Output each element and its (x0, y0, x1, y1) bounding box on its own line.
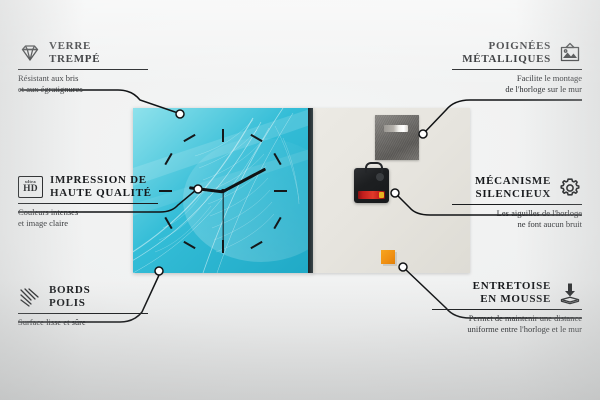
callout-title-line1: MÉCANISME (475, 175, 551, 188)
clock-face-panel (133, 108, 313, 273)
callout-subtitle-line1: Couleurs intenses (18, 207, 158, 218)
callout-subtitle-line1: Permet de maintenir une distance (432, 313, 582, 324)
callout-subtitle-line2: de l'horloge sur le mur (452, 84, 582, 95)
callout-title-line1: VERRE (49, 40, 100, 53)
clock-mechanism (354, 168, 389, 203)
callout-bords-polis: BORDS POLIS Surface lisse et sûre (18, 284, 148, 328)
arrow-down-pad-icon (558, 281, 582, 305)
callout-title-line2: POLIS (49, 297, 90, 310)
ultra-hd-icon: ultra HD (18, 176, 43, 198)
callout-title-line2: HAUTE QUALITÉ (50, 187, 152, 200)
callout-header: BORDS POLIS (18, 284, 148, 310)
diagonal-lines-icon (18, 285, 42, 309)
callout-title-line1: IMPRESSION DE (50, 174, 152, 187)
callout-subtitle-line2: ne font aucun bruit (452, 219, 582, 230)
callout-divider (452, 204, 582, 205)
gear-icon (558, 176, 582, 200)
callout-subtitle-line1: Les aiguilles de l'horloge (452, 208, 582, 219)
infographic-canvas: VERRE TREMPÉ Résistant aux bris et aux é… (0, 0, 600, 400)
callout-header: ultra HD IMPRESSION DE HAUTE QUALITÉ (18, 174, 158, 200)
callout-title-line2: SILENCIEUX (475, 188, 551, 201)
product-image (133, 108, 470, 273)
callout-title-line2: MÉTALLIQUES (462, 53, 551, 66)
callout-divider (452, 69, 582, 70)
callout-title-line2: TREMPÉ (49, 53, 100, 66)
callout-title-line1: BORDS (49, 284, 90, 297)
ultra-hd-icon-large-text: HD (23, 185, 38, 195)
callout-subtitle-line2: uniforme entre l'horloge et le mur (432, 324, 582, 335)
battery (358, 191, 385, 199)
callout-subtitle-line1: Facilite le montage (452, 73, 582, 84)
foam-spacer (381, 250, 395, 264)
callout-impression-haute-qualite: ultra HD IMPRESSION DE HAUTE QUALITÉ Cou… (18, 174, 158, 228)
callout-title-line2: EN MOUSSE (473, 293, 551, 306)
callout-subtitle-line1: Résistant aux bris (18, 73, 148, 84)
clock-tick (274, 190, 287, 192)
callout-divider (18, 313, 148, 314)
callout-subtitle-line2: et aux égratignures (18, 84, 148, 95)
callout-mecanisme-silencieux: MÉCANISME SILENCIEUX Les aiguilles de l'… (452, 175, 582, 229)
callout-header: ENTRETOISE EN MOUSSE (432, 280, 582, 306)
clock-panel-edge (308, 108, 313, 273)
callout-title-line1: ENTRETOISE (473, 280, 551, 293)
callout-entretoise-en-mousse: ENTRETOISE EN MOUSSE Permet de maintenir… (432, 280, 582, 334)
clock-back-panel (311, 108, 470, 273)
callout-divider (432, 309, 582, 310)
clock-tick (159, 190, 172, 192)
mechanism-dial (376, 173, 384, 181)
clock-tick (222, 129, 224, 142)
hanging-loop-icon (365, 162, 383, 173)
callout-header: POIGNÉES MÉTALLIQUES (452, 40, 582, 66)
callout-title-line1: POIGNÉES (462, 40, 551, 53)
callout-divider (18, 69, 148, 70)
clock-center-cap (221, 189, 225, 193)
clock-second-hand (222, 191, 223, 243)
callout-header: VERRE TREMPÉ (18, 40, 148, 66)
callout-poignees-metalliques: POIGNÉES MÉTALLIQUES Facilite le montage… (452, 40, 582, 94)
callout-divider (18, 203, 158, 204)
callout-header: MÉCANISME SILENCIEUX (452, 175, 582, 201)
metal-bracket-icon (384, 125, 408, 132)
callout-subtitle-line2: et image claire (18, 218, 158, 229)
callout-verre-trempe: VERRE TREMPÉ Résistant aux bris et aux é… (18, 40, 148, 94)
callout-subtitle-line1: Surface lisse et sûre (18, 317, 148, 328)
metal-bracket-detail (375, 115, 419, 160)
framed-picture-icon (558, 41, 582, 65)
diamond-icon (18, 41, 42, 65)
